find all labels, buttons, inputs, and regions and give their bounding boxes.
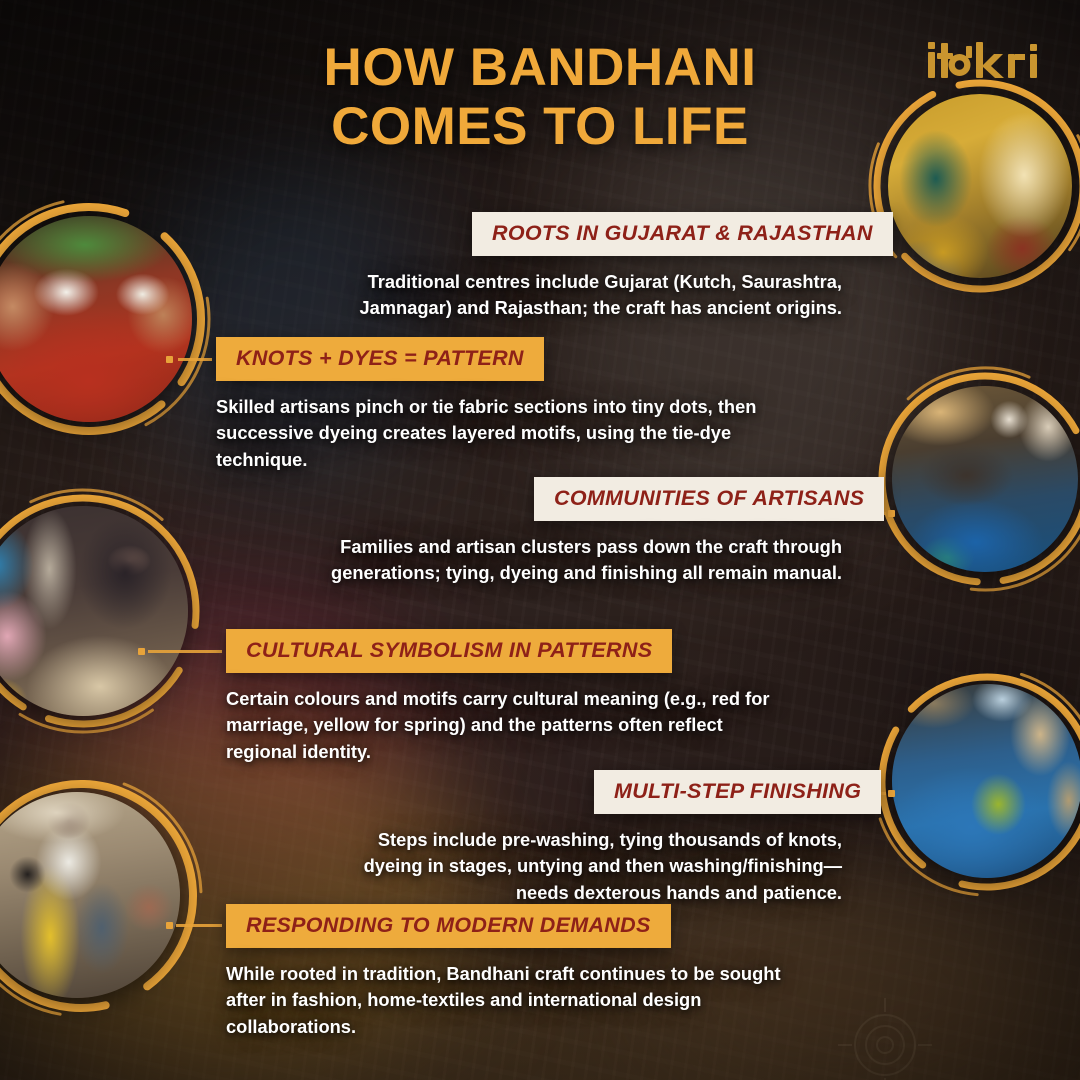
section-knots-dyes-pattern: KNOTS + DYES = PATTERN Skilled artisans …: [216, 337, 500, 473]
connector-dot-3: [888, 510, 895, 517]
photo-hands-tying-red-cloth: [0, 216, 192, 422]
section-body-text: Steps include pre-washing, tying thousan…: [322, 827, 842, 906]
connector-dot-2: [166, 356, 173, 363]
photo-women-tying-yellow-room: [888, 94, 1072, 278]
connector-dot-4: [138, 648, 145, 655]
section-heading-chip: MULTI-STEP FINISHING: [594, 770, 881, 814]
section-heading-chip: RESPONDING TO MODERN DEMANDS: [226, 904, 671, 948]
section-body-text: While rooted in tradition, Bandhani craf…: [226, 961, 782, 1040]
section-heading-chip: ROOTS IN GUJARAT & RAJASTHAN: [472, 212, 893, 256]
connector-dot-6: [166, 922, 173, 929]
connector-dot-5: [888, 790, 895, 797]
section-heading-chip: CULTURAL SYMBOLISM IN PATTERNS: [226, 629, 672, 673]
section-communities-of-artisans: COMMUNITIES OF ARTISANS Families and art…: [534, 477, 842, 587]
infographic-canvas: HOW BANDHANI COMES TO LIFE: [0, 0, 1080, 1080]
section-responding-to-modern-demands: RESPONDING TO MODERN DEMANDS While roote…: [226, 904, 616, 1040]
connector-line-2: [178, 358, 212, 361]
section-body-text: Certain colours and motifs carry cultura…: [226, 686, 772, 765]
section-roots-in-gujarat-rajasthan: ROOTS IN GUJARAT & RAJASTHAN Traditional…: [472, 212, 842, 322]
section-body-text: Traditional centres include Gujarat (Kut…: [272, 269, 842, 322]
section-body-text: Skilled artisans pinch or tie fabric sec…: [216, 394, 772, 473]
photo-women-knotting-fabric: [0, 506, 188, 716]
page-title-line-1: HOW BANDHANI: [324, 38, 757, 97]
section-cultural-symbolism-in-patterns: CULTURAL SYMBOLISM IN PATTERNS Certain c…: [226, 629, 610, 765]
section-heading-chip: KNOTS + DYES = PATTERN: [216, 337, 544, 381]
connector-line-4: [148, 650, 222, 653]
photo-artisan-dyeing-blue-tub: [892, 386, 1078, 572]
section-body-text: Families and artisan clusters pass down …: [238, 534, 842, 587]
section-heading-chip: COMMUNITIES OF ARTISANS: [534, 477, 884, 521]
section-multi-step-finishing: MULTI-STEP FINISHING Steps include pre-w…: [594, 770, 842, 906]
photo-artisan-lifting-yellow-cloth: [0, 792, 180, 998]
itokri-logo: [924, 38, 1044, 84]
connector-line-6: [176, 924, 222, 927]
photo-indigo-dye-vat: [892, 684, 1080, 878]
